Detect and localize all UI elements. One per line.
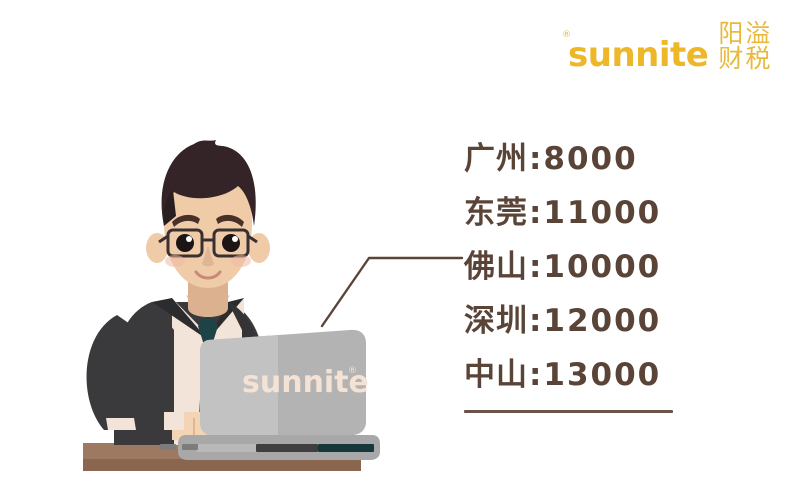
eye-right: [222, 234, 240, 252]
laptop-keyboard-strip: [256, 444, 318, 452]
price-value: 8000: [543, 141, 637, 177]
price-separator: :: [528, 357, 543, 393]
eye-left: [176, 234, 194, 252]
cheek-right: [231, 255, 251, 267]
price-row: 广州:8000: [464, 132, 694, 186]
brand-chinese-name: 阳溢财税: [718, 21, 788, 72]
businessman-illustration: sunnite ®: [60, 130, 390, 475]
price-value: 10000: [543, 249, 661, 285]
price-separator: :: [528, 303, 543, 339]
laptop-registered-mark-icon: ®: [348, 366, 357, 376]
price-city: 中山: [464, 357, 528, 393]
price-list-underline: [464, 410, 673, 413]
laptop-accent-strip: [318, 444, 374, 452]
price-separator: :: [528, 249, 543, 285]
eye-highlight-right: [232, 236, 238, 242]
price-value: 11000: [543, 195, 661, 231]
shirt-cuff-left: [106, 418, 136, 430]
price-city: 东莞: [464, 195, 528, 231]
registered-trademark-icon: ®: [562, 30, 571, 40]
cheek-left: [165, 255, 185, 267]
price-value: 13000: [543, 357, 661, 393]
brand-wordmark-text: sunnite: [568, 35, 708, 75]
price-city: 佛山: [464, 249, 528, 285]
brand-wordmark-sunnite: sunnite: [568, 38, 708, 72]
price-value: 12000: [543, 303, 661, 339]
price-row: 中山:13000: [464, 348, 694, 402]
laptop-key-right: [182, 444, 198, 450]
laptop-key-left: [160, 444, 176, 450]
brand-logo: sunnite 阳溢财税: [568, 30, 788, 72]
shirt-cuff-right: [164, 412, 184, 430]
price-row: 佛山:10000: [464, 240, 694, 294]
price-row: 深圳:12000: [464, 294, 694, 348]
price-row: 东莞:11000: [464, 186, 694, 240]
poster-canvas: sunnite 阳溢财税 ® 广州:8000 东莞:11000 佛山:10000…: [0, 0, 800, 496]
price-list: 广州:8000 东莞:11000 佛山:10000 深圳:12000 中山:13…: [464, 132, 694, 402]
price-separator: :: [528, 195, 543, 231]
price-separator: :: [528, 141, 543, 177]
price-city: 深圳: [464, 303, 528, 339]
eye-highlight-left: [186, 236, 192, 242]
price-city: 广州: [464, 141, 528, 177]
